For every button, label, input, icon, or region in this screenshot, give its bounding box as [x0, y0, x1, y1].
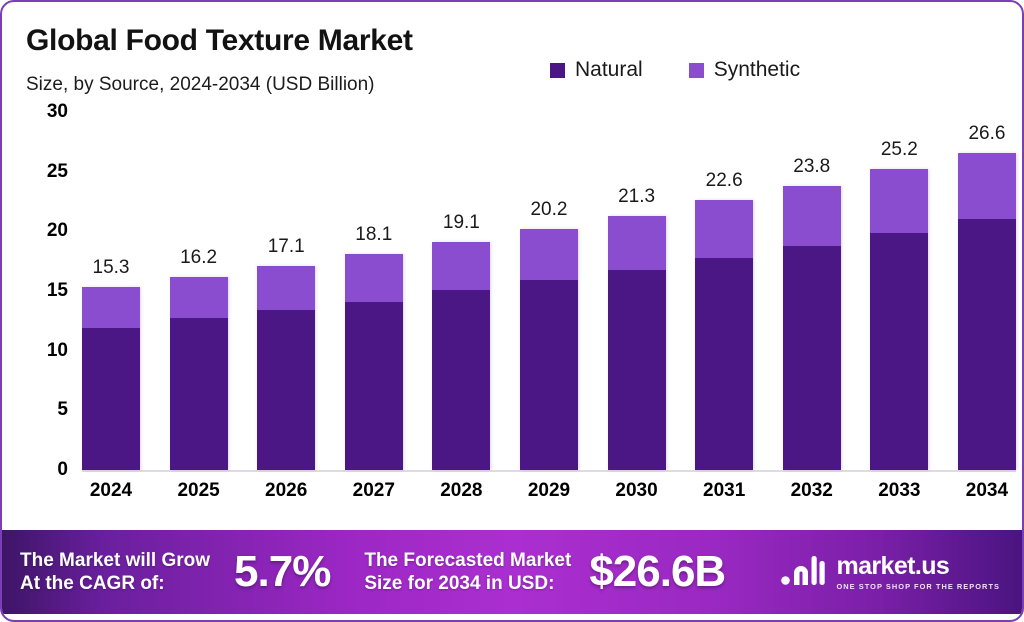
market-us-bars-icon [781, 553, 827, 592]
bar-stack[interactable] [608, 216, 666, 470]
cagr-caption-line1: The Market will Grow [20, 549, 210, 572]
cagr-block: The Market will Grow At the CAGR of: 5.7… [20, 547, 330, 597]
forecast-size-caption-line2: Size for 2034 in USD: [364, 572, 571, 595]
bar-segment-natural[interactable] [520, 280, 578, 470]
bar-group[interactable]: 16.2 [170, 112, 228, 470]
page-title: Global Food Texture Market [26, 24, 413, 58]
y-axis-tick: 0 [57, 459, 68, 481]
legend-item-natural[interactable]: Natural [550, 58, 643, 82]
bar-total-label: 17.1 [268, 236, 305, 258]
footer-bar: The Market will Grow At the CAGR of: 5.7… [2, 530, 1022, 614]
bar-group[interactable]: 15.3 [82, 112, 140, 470]
cagr-value: 5.7% [234, 547, 330, 597]
chart-legend: Natural Synthetic [550, 58, 800, 82]
bar-total-label: 15.3 [93, 257, 130, 279]
chart-header: Global Food Texture Market Size, by Sour… [2, 2, 1022, 112]
bar-stack[interactable] [870, 169, 928, 470]
bar-stack[interactable] [520, 229, 578, 470]
x-axis-tick: 2025 [170, 480, 228, 502]
x-axis-baseline [82, 470, 1016, 472]
bar-segment-synthetic[interactable] [520, 229, 578, 280]
legend-swatch-synthetic [689, 63, 704, 78]
bar-segment-synthetic[interactable] [170, 277, 228, 319]
legend-label-synthetic: Synthetic [714, 58, 800, 82]
bar-segment-natural[interactable] [695, 258, 753, 470]
y-axis-tick: 10 [47, 340, 68, 362]
y-axis-tick: 15 [47, 280, 68, 302]
bar-group[interactable]: 18.1 [345, 112, 403, 470]
y-axis-tick: 20 [47, 220, 68, 242]
bar-segment-synthetic[interactable] [608, 216, 666, 270]
bar-segment-synthetic[interactable] [432, 242, 490, 290]
bar-group[interactable]: 22.6 [695, 112, 753, 470]
bar-segment-natural[interactable] [432, 290, 490, 470]
cagr-caption: The Market will Grow At the CAGR of: [20, 549, 210, 595]
x-axis-tick: 2033 [870, 480, 928, 502]
bar-stack[interactable] [82, 287, 140, 470]
bar-group[interactable]: 19.1 [432, 112, 490, 470]
forecast-size-caption-line1: The Forecasted Market [364, 549, 571, 572]
brand-logo[interactable]: market.us ONE STOP SHOP FOR THE REPORTS [781, 553, 1006, 592]
infographic-container: Global Food Texture Market Size, by Sour… [0, 0, 1024, 622]
bar-total-label: 26.6 [968, 123, 1005, 145]
bar-stack[interactable] [170, 277, 228, 470]
bar-segment-natural[interactable] [608, 270, 666, 470]
bar-segment-natural[interactable] [82, 328, 140, 470]
x-axis-tick: 2028 [432, 480, 490, 502]
bar-stack[interactable] [432, 242, 490, 470]
x-axis-tick: 2030 [608, 480, 666, 502]
logo-name: market.us [836, 554, 1000, 579]
y-axis-tick: 25 [47, 161, 68, 183]
bar-total-label: 25.2 [881, 139, 918, 161]
bar-segment-natural[interactable] [257, 310, 315, 470]
bar-total-label: 23.8 [793, 156, 830, 178]
chart-plot-area: 051015202530 15.316.217.118.119.120.221.… [2, 112, 1024, 527]
x-axis-tick: 2026 [257, 480, 315, 502]
bar-series-container: 15.316.217.118.119.120.221.322.623.825.2… [82, 112, 1016, 470]
bar-stack[interactable] [257, 266, 315, 470]
legend-swatch-natural [550, 63, 565, 78]
bar-total-label: 19.1 [443, 212, 480, 234]
x-axis-tick: 2032 [783, 480, 841, 502]
bar-segment-synthetic[interactable] [345, 254, 403, 302]
bar-group[interactable]: 20.2 [520, 112, 578, 470]
bar-stack[interactable] [783, 186, 841, 470]
bar-total-label: 21.3 [618, 186, 655, 208]
bar-segment-synthetic[interactable] [958, 153, 1016, 220]
bar-segment-natural[interactable] [870, 233, 928, 470]
bar-group[interactable]: 23.8 [783, 112, 841, 470]
bar-group[interactable]: 26.6 [958, 112, 1016, 470]
bar-segment-natural[interactable] [958, 219, 1016, 470]
bar-segment-synthetic[interactable] [783, 186, 841, 246]
chart-subtitle: Size, by Source, 2024-2034 (USD Billion) [26, 74, 375, 96]
bar-group[interactable]: 17.1 [257, 112, 315, 470]
bar-total-label: 22.6 [706, 170, 743, 192]
y-axis: 051015202530 [2, 112, 80, 527]
x-axis-tick: 2034 [958, 480, 1016, 502]
x-axis-tick: 2031 [695, 480, 753, 502]
bar-group[interactable]: 21.3 [608, 112, 666, 470]
cagr-caption-line2: At the CAGR of: [20, 572, 210, 595]
x-axis-tick: 2024 [82, 480, 140, 502]
bar-segment-synthetic[interactable] [257, 266, 315, 310]
bar-segment-synthetic[interactable] [870, 169, 928, 232]
bar-segment-synthetic[interactable] [82, 287, 140, 328]
y-axis-tick: 30 [47, 101, 68, 123]
bar-segment-synthetic[interactable] [695, 200, 753, 257]
bar-group[interactable]: 25.2 [870, 112, 928, 470]
legend-item-synthetic[interactable]: Synthetic [689, 58, 800, 82]
bar-total-label: 18.1 [355, 224, 392, 246]
x-axis: 2024202520262027202820292030203120322033… [82, 480, 1016, 502]
bar-stack[interactable] [345, 254, 403, 470]
bar-stack[interactable] [958, 153, 1016, 470]
y-axis-tick: 5 [57, 399, 68, 421]
bar-stack[interactable] [695, 200, 753, 470]
logo-text: market.us ONE STOP SHOP FOR THE REPORTS [836, 554, 1000, 591]
logo-tagline: ONE STOP SHOP FOR THE REPORTS [836, 582, 1000, 591]
x-axis-tick: 2029 [520, 480, 578, 502]
bar-segment-natural[interactable] [170, 318, 228, 470]
forecast-size-value: $26.6B [589, 547, 725, 597]
bar-segment-natural[interactable] [345, 302, 403, 470]
bar-total-label: 20.2 [530, 199, 567, 221]
bar-total-label: 16.2 [180, 247, 217, 269]
forecast-size-caption: The Forecasted Market Size for 2034 in U… [364, 549, 571, 595]
x-axis-tick: 2027 [345, 480, 403, 502]
bar-segment-natural[interactable] [783, 246, 841, 470]
legend-label-natural: Natural [575, 58, 643, 82]
forecast-size-block: The Forecasted Market Size for 2034 in U… [364, 547, 725, 597]
